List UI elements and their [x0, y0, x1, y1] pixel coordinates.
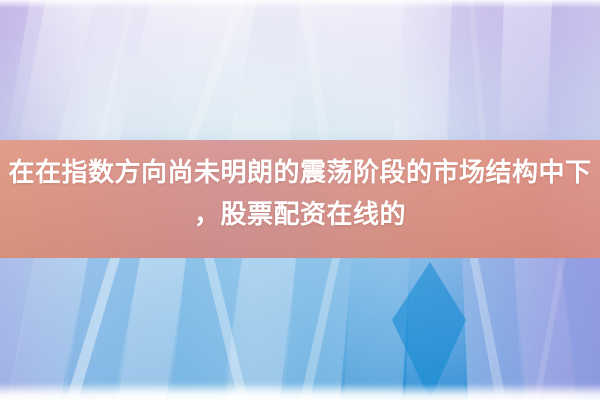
top-facet-group	[0, 0, 600, 140]
bottom-facet-group	[0, 258, 600, 400]
top-edge-fade	[0, 0, 600, 8]
headline-line-1: 在在指数方向尚未明朗的震荡阶段的市场结构中下	[0, 152, 600, 194]
decorative-banner: 在在指数方向尚未明朗的震荡阶段的市场结构中下 ，股票配资在线的	[0, 0, 600, 400]
headline-text: 在在指数方向尚未明朗的震荡阶段的市场结构中下 ，股票配资在线的	[0, 152, 600, 236]
headline-line-2: ，股票配资在线的	[0, 194, 600, 236]
bottom-edge-fade	[0, 384, 600, 400]
